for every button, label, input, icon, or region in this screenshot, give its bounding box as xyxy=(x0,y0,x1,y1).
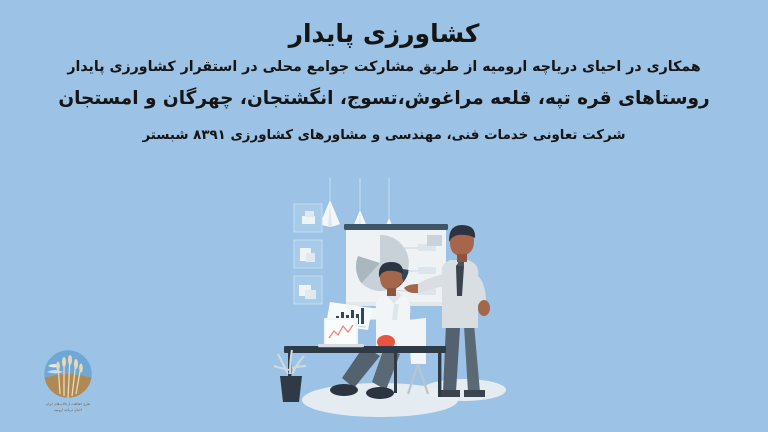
heading-block: کشاورزی پایدار همکاری در احیای دریاچه ار… xyxy=(0,0,768,144)
office-chair xyxy=(408,318,428,394)
organization-logo: طرح حفاظت از تالاب‌های ایران احیای دریاچ… xyxy=(26,346,110,424)
laptop xyxy=(318,318,364,347)
illustration-business-presentation xyxy=(268,178,524,432)
shoe-left xyxy=(330,384,358,396)
potted-plant xyxy=(274,350,306,402)
logo-caption: طرح حفاظت از تالاب‌های ایران احیای دریاچ… xyxy=(26,402,110,414)
logo-caption-line-2: احیای دریاچه ارومیه xyxy=(26,408,110,414)
poster-canvas: کشاورزی پایدار همکاری در احیای دریاچه ار… xyxy=(0,0,768,432)
subtitle-organization: شرکت تعاونی خدمات فنی، مهندسی و مشاورهای… xyxy=(0,111,768,144)
pendant-lamp-left xyxy=(320,178,340,227)
wall-frame-middle xyxy=(294,240,322,268)
subtitle-project-description: همکاری در احیای دریاچه ارومیه از طریق مش… xyxy=(0,49,768,76)
wall-frame-top xyxy=(294,204,322,232)
wall-frame-bottom xyxy=(294,276,322,304)
shoe-right xyxy=(366,387,394,399)
page-title: کشاورزی پایدار xyxy=(0,0,768,49)
subtitle-village-list: روستاهای قره تپه، قلعه مراغوش،تسوج، انگش… xyxy=(0,77,768,111)
